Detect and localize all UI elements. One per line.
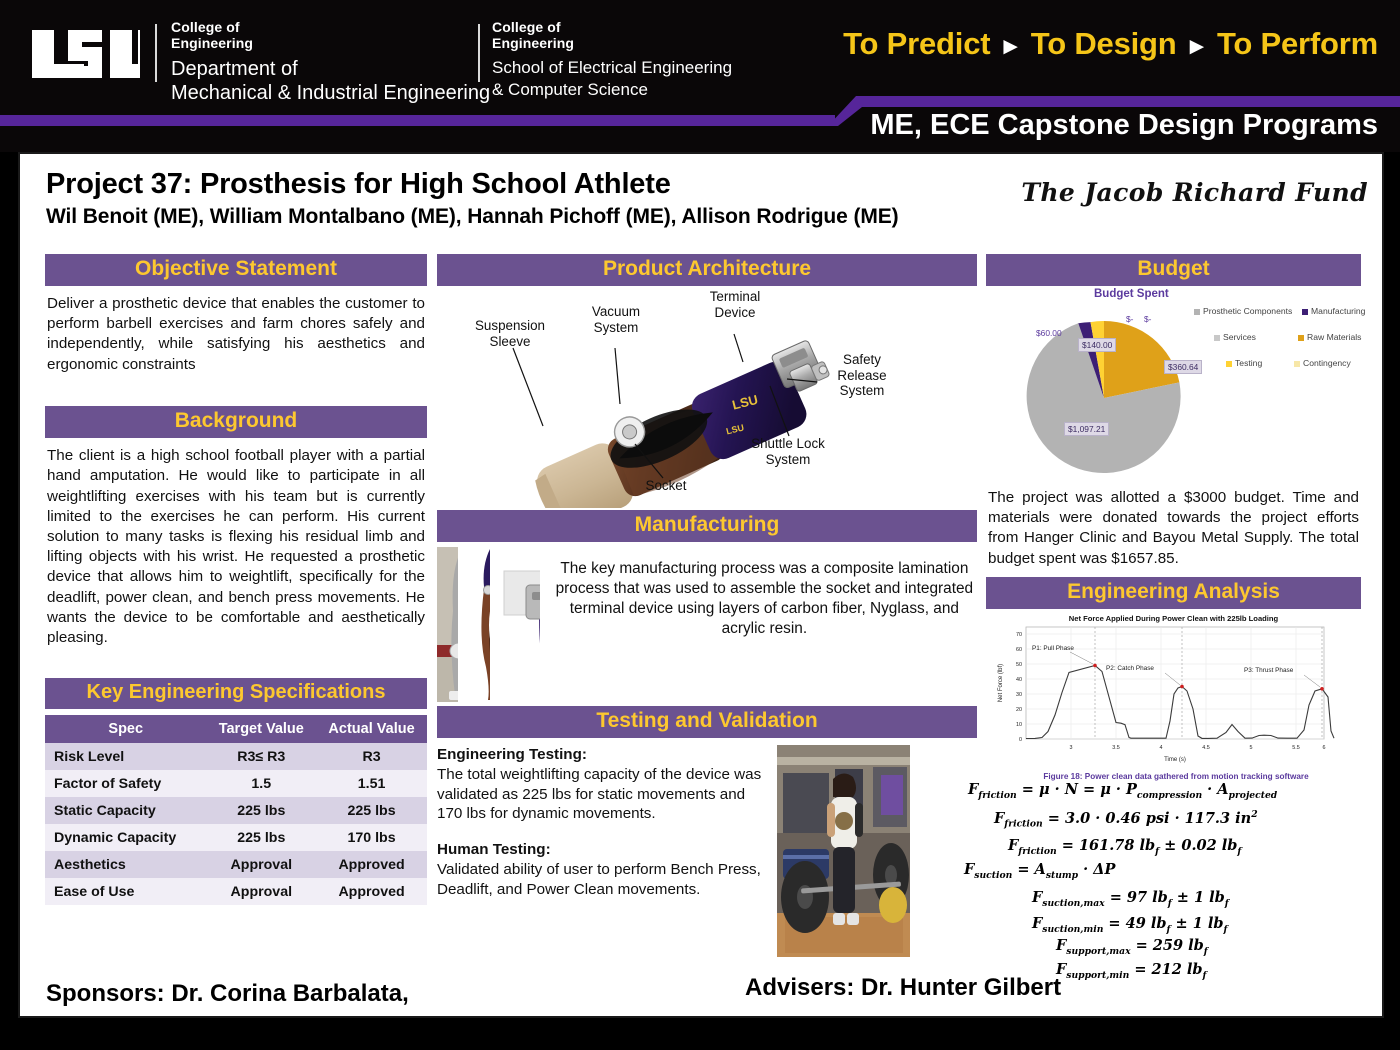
background-text: The client is a high school football pla…: [45, 438, 427, 668]
cell-actual: Approved: [316, 851, 427, 878]
figure-caption: Figure 18: Power clean data gathered fro…: [1006, 772, 1346, 781]
cell-spec: Risk Level: [45, 743, 206, 770]
dept-ece-line2: & Computer Science: [492, 79, 732, 100]
table-row: Static Capacity 225 lbs 225 lbs: [45, 797, 427, 824]
cell-target: Approval: [206, 878, 316, 905]
testing-row: Engineering Testing: The total weightlif…: [437, 738, 977, 957]
legend-swatch-icon: [1302, 309, 1308, 315]
left-column: Objective Statement Deliver a prosthetic…: [45, 254, 427, 905]
testing-text-block: Engineering Testing: The total weightlif…: [437, 745, 767, 957]
photo-deadlift-test: [777, 745, 910, 957]
manufacturing-text: The key manufacturing process was a comp…: [546, 547, 977, 639]
section-header-budget: Budget: [986, 254, 1361, 286]
table-header-row: Spec Target Value Actual Value: [45, 715, 427, 743]
page-title: Project 37: Prosthesis for High School A…: [46, 168, 671, 201]
legend-swatch-icon: [1194, 309, 1200, 315]
pie-label-raw-materials: $360.64: [1164, 360, 1202, 374]
legend-manufacturing: Manufacturing: [1302, 306, 1365, 316]
legend-testing: Testing: [1226, 358, 1262, 368]
lsu-logo: [30, 28, 140, 80]
cell-spec: Dynamic Capacity: [45, 824, 206, 851]
legend-swatch-icon: [1214, 335, 1220, 341]
col-header-actual: Actual Value: [316, 715, 427, 743]
svg-text:60: 60: [1016, 647, 1022, 653]
pie-label-services: $-: [1126, 314, 1133, 324]
dept-ece-line1: School of Electrical Engineering: [492, 57, 732, 78]
chart-title-budget: Budget Spent: [1094, 288, 1169, 300]
college-label-1: College ofEngineering: [171, 20, 490, 51]
product-architecture-figure: LSU LSU: [437, 286, 977, 508]
engineering-testing-text: The total weightlifting capacity of the …: [437, 765, 767, 824]
advisers-line: Advisers: Dr. Hunter Gilbert: [745, 974, 1061, 1002]
equation-suction-max: Fsuction,max = 97 lbf ± 1 lbf: [1032, 889, 1229, 909]
photo-socket-cutout: LSU LSU: [464, 547, 491, 702]
section-header-specs: Key Engineering Specifications: [45, 678, 427, 709]
objective-text: Deliver a prosthetic device that enables…: [45, 286, 427, 398]
section-header-architecture: Product Architecture: [437, 254, 977, 286]
cell-target: R3≤ R3: [206, 743, 316, 770]
budget-text: The project was allotted a $3000 budget.…: [986, 486, 1361, 569]
dept-mie-line1: Department of: [171, 57, 490, 81]
label-socket: Socket: [630, 478, 702, 494]
cell-actual: Approved: [316, 878, 427, 905]
manufacturing-row: LSU LSU LSU LSU The key manufa: [437, 542, 977, 702]
pie-label-contingency: $-: [1144, 314, 1151, 324]
annotation-p2-catch-phase: P2: Catch Phase: [1106, 665, 1154, 672]
svg-text:50: 50: [1016, 662, 1022, 668]
department-mie: College ofEngineering Department of Mech…: [171, 20, 490, 105]
equation-suction: Fsuction = Astump · ΔP: [964, 861, 1115, 881]
equation-friction-1: Ffriction = μ · N = μ · Pcompression · A…: [968, 781, 1277, 801]
equation-support-min: Fsupport,min = 212 lbf: [1056, 961, 1206, 981]
cell-target: 225 lbs: [206, 797, 316, 824]
svg-text:40: 40: [1016, 677, 1022, 683]
human-testing-label: Human Testing:: [437, 840, 767, 860]
logo-divider-1: [155, 24, 157, 82]
svg-text:6: 6: [1323, 745, 1326, 751]
cell-spec: Aesthetics: [45, 851, 206, 878]
department-ece: College ofEngineering School of Electric…: [492, 20, 732, 100]
section-header-objective: Objective Statement: [45, 254, 427, 286]
human-testing-text: Validated ability of user to perform Ben…: [437, 860, 767, 900]
col-header-spec: Spec: [45, 715, 206, 743]
college-label-2: College ofEngineering: [492, 20, 732, 51]
header-purple-rule: [0, 115, 835, 126]
cell-target: 1.5: [206, 770, 316, 797]
section-header-testing: Testing and Validation: [437, 706, 977, 738]
tagline-predict: To Predict: [843, 26, 990, 61]
key-specifications-table: Spec Target Value Actual Value Risk Leve…: [45, 715, 427, 905]
photo-terminal-assembly: LSU LSU: [496, 565, 539, 695]
legend-services: Services: [1214, 332, 1256, 342]
cell-actual: 170 lbs: [316, 824, 427, 851]
svg-text:Net Force (lbf): Net Force (lbf): [998, 664, 1004, 702]
right-column: Budget Budget Spent $- $- $60.00 $140.00…: [986, 254, 1361, 971]
legend-raw-materials: Raw Materials: [1298, 332, 1361, 342]
budget-pie-chart: Budget Spent $- $- $60.00 $140.00 $360.6…: [986, 286, 1361, 486]
label-vacuum-system: VacuumSystem: [568, 304, 664, 335]
middle-column: Product Architecture: [437, 254, 977, 957]
equation-friction-2: Ffriction = 3.0 · 0.46 psi · 117.3 in2: [994, 809, 1258, 830]
label-shuttle-lock-system: Shuttle LockSystem: [729, 436, 847, 467]
engineering-testing-label: Engineering Testing:: [437, 745, 767, 765]
label-terminal-device: TerminalDevice: [686, 289, 784, 320]
tagline-design: To Design: [1031, 26, 1177, 61]
chart-title-net-force: Net Force Applied During Power Clean wit…: [986, 614, 1361, 623]
svg-text:10: 10: [1016, 722, 1022, 728]
equation-suction-min: Fsuction,min = 49 lbf ± 1 lbf: [1032, 915, 1227, 935]
svg-text:4: 4: [1160, 745, 1163, 751]
cell-actual: R3: [316, 743, 427, 770]
equation-block: Ffriction = μ · N = μ · Pcompression · A…: [986, 781, 1361, 971]
table-row: Ease of Use Approval Approved: [45, 878, 427, 905]
svg-text:5: 5: [1250, 745, 1253, 751]
svg-text:20: 20: [1016, 707, 1022, 713]
cell-spec: Static Capacity: [45, 797, 206, 824]
sponsors-line: Sponsors: Dr. Corina Barbalata,: [46, 980, 409, 1008]
logo-divider-2: [478, 24, 480, 82]
pie-label-testing: $140.00: [1078, 338, 1116, 352]
dept-mie-line2: Mechanical & Industrial Engineering: [171, 81, 490, 105]
cell-target: 225 lbs: [206, 824, 316, 851]
section-header-engineering-analysis: Engineering Analysis: [986, 577, 1361, 609]
jacob-richard-fund-logo: The Jacob Richard Fund: [1021, 178, 1368, 207]
col-header-target: Target Value: [206, 715, 316, 743]
photo-plaster-mold: [437, 547, 458, 702]
annotation-p1-pull-phase: P1: Pull Phase: [1032, 645, 1074, 652]
section-header-manufacturing: Manufacturing: [437, 510, 977, 542]
svg-text:70: 70: [1016, 632, 1022, 638]
svg-text:0: 0: [1019, 737, 1022, 743]
program-title: ME, ECE Capstone Design Programs: [870, 109, 1378, 142]
legend-swatch-icon: [1226, 361, 1232, 367]
pie-label-manufacturing: $60.00: [1036, 328, 1062, 338]
legend-contingency: Contingency: [1294, 358, 1351, 368]
cell-target: Approval: [206, 851, 316, 878]
label-suspension-sleeve: SuspensionSleeve: [455, 318, 565, 349]
equation-friction-3: Ffriction = 161.78 lbf ± 0.02 lbf: [1008, 837, 1241, 857]
net-force-line-chart: Net Force Applied During Power Clean wit…: [986, 609, 1361, 787]
svg-text:5.5: 5.5: [1292, 745, 1300, 751]
cell-spec: Factor of Safety: [45, 770, 206, 797]
cell-spec: Ease of Use: [45, 878, 206, 905]
svg-text:3.5: 3.5: [1112, 745, 1120, 751]
table-row: Factor of Safety 1.5 1.51: [45, 770, 427, 797]
table-row: Dynamic Capacity 225 lbs 170 lbs: [45, 824, 427, 851]
legend-prosthetic-components: Prosthetic Components: [1194, 306, 1292, 316]
label-safety-release-system: SafetyReleaseSystem: [819, 352, 905, 399]
svg-text:30: 30: [1016, 692, 1022, 698]
annotation-p3-thrust-phase: P3: Thrust Phase: [1244, 667, 1293, 674]
site-header: College ofEngineering Department of Mech…: [0, 0, 1400, 152]
legend-swatch-icon: [1294, 361, 1300, 367]
tagline: To Predict ► To Design ► To Perform: [843, 26, 1378, 62]
pie-label-prosthetic-components: $1,097.21: [1064, 422, 1109, 436]
svg-text:Time (s): Time (s): [1164, 757, 1186, 763]
table-row: Risk Level R3≤ R3 R3: [45, 743, 427, 770]
legend-swatch-icon: [1298, 335, 1304, 341]
cell-actual: 225 lbs: [316, 797, 427, 824]
equation-support-max: Fsupport,max = 259 lbf: [1056, 937, 1208, 957]
author-list: Wil Benoit (ME), William Montalbano (ME)…: [46, 205, 899, 229]
triangle-icon-1: ►: [999, 33, 1023, 60]
triangle-icon-2: ►: [1185, 33, 1209, 60]
cell-actual: 1.51: [316, 770, 427, 797]
svg-text:4.5: 4.5: [1202, 745, 1210, 751]
svg-text:3: 3: [1070, 745, 1073, 751]
poster-board: Project 37: Prosthesis for High School A…: [18, 152, 1384, 1018]
tagline-perform: To Perform: [1217, 26, 1378, 61]
section-header-background: Background: [45, 406, 427, 438]
table-row: Aesthetics Approval Approved: [45, 851, 427, 878]
